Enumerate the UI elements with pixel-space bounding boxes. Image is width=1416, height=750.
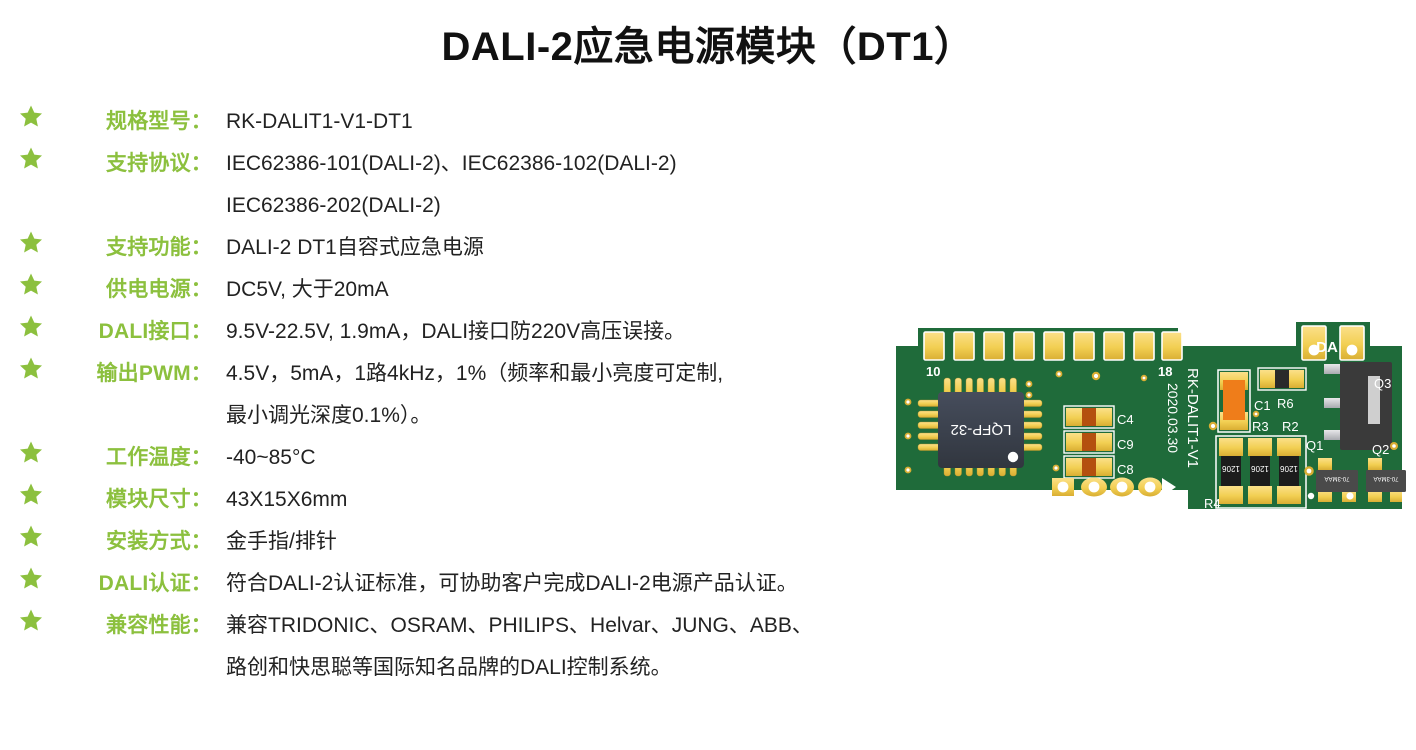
- star-icon: [19, 524, 43, 548]
- silk-resistor-code-2: 1206: [1251, 464, 1269, 473]
- spec-value: DC5V, 大于20mA: [212, 269, 900, 311]
- bullet-cell: [0, 269, 62, 296]
- spec-value: 兼容TRIDONIC、OSRAM、PHILIPS、Helvar、JUNG、ABB…: [212, 605, 900, 689]
- spec-value: 9.5V-22.5V, 1.9mA，DALI接口防220V高压误接。: [212, 311, 900, 353]
- silk-label-c8: C8: [1117, 462, 1134, 477]
- spec-label: 模块尺寸：: [62, 479, 212, 521]
- silk-transistor-code-1: 70-3MAA: [1324, 475, 1349, 481]
- silk-chip-marking: LQFP-32: [951, 421, 1012, 438]
- silk-label-r2: R2: [1282, 419, 1299, 434]
- bullet-cell: [0, 353, 62, 380]
- silk-resistor-code-1: 1206: [1222, 464, 1240, 473]
- spec-row-output-pwm: 输出PWM： 4.5V，5mA，1路4kHz，1%（频率和最小亮度可定制, 最小…: [0, 353, 900, 437]
- spec-value: -40~85°C: [212, 437, 900, 479]
- spec-value-text: 43X15X6mm: [226, 488, 347, 511]
- star-icon: [19, 272, 43, 296]
- spec-value-text: 兼容TRIDONIC、OSRAM、PHILIPS、Helvar、JUNG、ABB…: [226, 614, 813, 637]
- star-icon: [19, 482, 43, 506]
- spec-value-continuation: IEC62386-202(DALI-2): [226, 185, 900, 227]
- spec-row-model: 规格型号： RK-DALIT1-V1-DT1: [0, 101, 900, 143]
- bullet-cell: [0, 101, 62, 128]
- star-icon: [19, 104, 43, 128]
- spec-label: 安装方式：: [62, 521, 212, 563]
- spec-label: 供电电源：: [62, 269, 212, 311]
- bullet-cell: [0, 437, 62, 464]
- spec-value: 符合DALI-2认证标准，可协助客户完成DALI-2电源产品认证。: [212, 563, 900, 605]
- spec-value-text: 4.5V，5mA，1路4kHz，1%（频率和最小亮度可定制,: [226, 362, 723, 385]
- star-icon: [19, 314, 43, 338]
- spec-label: 支持协议：: [62, 143, 212, 185]
- spec-value: 金手指/排针: [212, 521, 900, 563]
- spec-row-power-supply: 供电电源： DC5V, 大于20mA: [0, 269, 900, 311]
- silk-pad-number-10: 10: [926, 364, 940, 379]
- spec-value-text: -40~85°C: [226, 446, 316, 469]
- spec-value: DALI-2 DT1自容式应急电源: [212, 227, 900, 269]
- silk-label-q3: Q3: [1374, 376, 1391, 391]
- spec-row-compatibility: 兼容性能： 兼容TRIDONIC、OSRAM、PHILIPS、Helvar、JU…: [0, 605, 900, 689]
- bullet-cell: [0, 311, 62, 338]
- spec-value: RK-DALIT1-V1-DT1: [212, 101, 900, 143]
- spec-value: IEC62386-101(DALI-2)、IEC62386-102(DALI-2…: [212, 143, 900, 227]
- spec-value-text: 9.5V-22.5V, 1.9mA，DALI接口防220V高压误接。: [226, 320, 685, 343]
- star-icon: [19, 566, 43, 590]
- spec-label: 支持功能：: [62, 227, 212, 269]
- spec-value-text: RK-DALIT1-V1-DT1: [226, 110, 413, 133]
- specification-list: 规格型号： RK-DALIT1-V1-DT1 支持协议： IEC62386-10…: [0, 101, 900, 689]
- spec-row-dali-interface: DALI接口： 9.5V-22.5V, 1.9mA，DALI接口防220V高压误…: [0, 311, 900, 353]
- pcb-board-image: 10 18: [896, 318, 1406, 523]
- spec-value: 43X15X6mm: [212, 479, 900, 521]
- spec-label: 输出PWM：: [62, 353, 212, 395]
- page-title: DALI-2应急电源模块（DT1）: [0, 14, 1416, 72]
- spec-value: 4.5V，5mA，1路4kHz，1%（频率和最小亮度可定制, 最小调光深度0.1…: [212, 353, 900, 437]
- silk-label-c4: C4: [1117, 412, 1134, 427]
- spec-label: DALI接口：: [62, 311, 212, 353]
- spec-label: 兼容性能：: [62, 605, 212, 647]
- silk-label-r3: R3: [1252, 419, 1269, 434]
- spec-label: 工作温度：: [62, 437, 212, 479]
- spec-value-text: 金手指/排针: [226, 530, 337, 553]
- spec-value-text: 符合DALI-2认证标准，可协助客户完成DALI-2电源产品认证。: [226, 572, 798, 595]
- silk-board-date: 2020.03.30: [1165, 383, 1181, 453]
- silk-label-c1: C1: [1254, 398, 1271, 413]
- silk-label-r6: R6: [1277, 396, 1294, 411]
- silk-pad-number-18: 18: [1158, 364, 1172, 379]
- spec-row-temperature: 工作温度： -40~85°C: [0, 437, 900, 479]
- silk-label-c9: C9: [1117, 437, 1134, 452]
- silk-label-r4: R4: [1204, 496, 1221, 511]
- silk-resistor-code-3: 1206: [1280, 464, 1298, 473]
- gold-finger-pads: [924, 332, 1182, 360]
- silk-label-da: DA: [1316, 339, 1338, 356]
- star-icon: [19, 146, 43, 170]
- bullet-cell: [0, 563, 62, 590]
- silk-label-q1: Q1: [1306, 438, 1323, 453]
- spec-value-text: DALI-2 DT1自容式应急电源: [226, 236, 484, 259]
- star-icon: [19, 356, 43, 380]
- spec-value-continuation: 路创和快思聪等国际知名品牌的DALI控制系统。: [226, 647, 900, 689]
- spec-row-dimensions: 模块尺寸： 43X15X6mm: [0, 479, 900, 521]
- spec-row-protocol: 支持协议： IEC62386-101(DALI-2)、IEC62386-102(…: [0, 143, 900, 227]
- spec-value-continuation: 最小调光深度0.1%）。: [226, 395, 900, 437]
- spec-row-certification: DALI认证： 符合DALI-2认证标准，可协助客户完成DALI-2电源产品认证…: [0, 563, 900, 605]
- bullet-cell: [0, 143, 62, 170]
- spec-value-text: DC5V, 大于20mA: [226, 278, 389, 301]
- star-icon: [19, 440, 43, 464]
- spec-value-text: IEC62386-101(DALI-2)、IEC62386-102(DALI-2…: [226, 152, 677, 175]
- capacitor-group: C4 C9 C8: [1064, 406, 1134, 478]
- silk-board-name: RK-DALIT1-V1: [1184, 368, 1201, 468]
- bullet-cell: [0, 479, 62, 506]
- spec-row-mounting: 安装方式： 金手指/排针: [0, 521, 900, 563]
- spec-label: 规格型号：: [62, 101, 212, 143]
- bullet-cell: [0, 227, 62, 254]
- star-icon: [19, 608, 43, 632]
- through-hole-pads: [1052, 478, 1176, 498]
- spec-label: DALI认证：: [62, 563, 212, 605]
- bullet-cell: [0, 605, 62, 632]
- silk-transistor-code-2: 70-3MAA: [1373, 475, 1398, 481]
- silk-label-q2: Q2: [1372, 442, 1389, 457]
- pcb-illustration: 10 18: [896, 318, 1406, 523]
- bullet-cell: [0, 521, 62, 548]
- spec-row-function: 支持功能： DALI-2 DT1自容式应急电源: [0, 227, 900, 269]
- star-icon: [19, 230, 43, 254]
